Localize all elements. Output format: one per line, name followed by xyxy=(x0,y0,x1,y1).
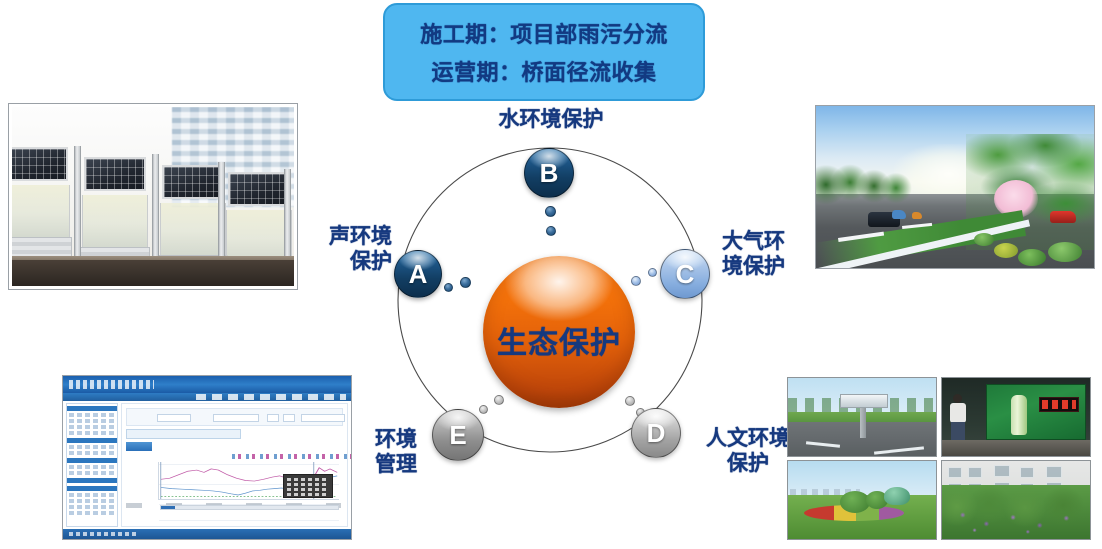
dashboard-main-panel xyxy=(121,403,348,527)
solar-panel xyxy=(84,157,146,191)
sidebar-item xyxy=(69,419,115,423)
footer-text xyxy=(69,532,139,536)
sidebar-item xyxy=(69,505,115,509)
chart-legend xyxy=(232,454,352,459)
sidebar-item xyxy=(69,493,115,497)
solar-panel xyxy=(228,172,290,206)
photo-monitoring-dashboard xyxy=(62,375,352,540)
connector-dot-b1 xyxy=(545,206,556,217)
tooltip-line xyxy=(287,478,329,481)
chart-tooltip xyxy=(283,474,333,498)
dashboard-nav-items xyxy=(196,394,346,400)
car-red xyxy=(1050,211,1076,223)
window xyxy=(994,465,1010,477)
filter-select[interactable] xyxy=(157,414,191,422)
photo-sound-barrier xyxy=(8,103,298,290)
filter-date-input[interactable] xyxy=(301,414,345,422)
shrub xyxy=(1018,249,1046,266)
dashboard-footer xyxy=(63,529,351,539)
sidebar-group-header xyxy=(67,458,117,463)
glass-panel xyxy=(226,210,292,262)
sidebar-item xyxy=(69,471,115,475)
node-letter-d: D xyxy=(647,418,666,449)
car-orange xyxy=(912,212,922,219)
sidebar-item xyxy=(69,499,115,503)
sidebar-group-header xyxy=(67,486,117,491)
led-digits xyxy=(1042,400,1076,409)
sidebar-item xyxy=(69,413,115,417)
gridline xyxy=(159,520,339,521)
pedestrian-torso xyxy=(950,403,966,423)
connector-dot-c1 xyxy=(631,276,641,286)
solar-panel xyxy=(162,165,224,199)
chart-scrollbar[interactable] xyxy=(160,505,339,510)
topiary-dome xyxy=(884,487,910,505)
label-environment-management: 环境 管理 xyxy=(348,428,444,478)
tooltip-line xyxy=(287,488,329,491)
billboard-pole xyxy=(860,408,866,438)
led-display xyxy=(1039,397,1079,412)
connector-dot-d1 xyxy=(625,396,635,406)
dashboard-title-text xyxy=(69,380,154,389)
sidebar-group-header xyxy=(67,406,117,411)
shrub xyxy=(974,233,994,246)
node-letter-b: B xyxy=(540,158,559,189)
node-sphere-d[interactable]: D xyxy=(631,408,681,458)
photo-humanistic-collage xyxy=(787,377,1093,540)
connector-dot-c2 xyxy=(648,268,657,277)
label-noise-protection: 声环境 保护 xyxy=(282,225,392,275)
glass-panel xyxy=(12,185,70,237)
node-sphere-c[interactable]: C xyxy=(660,249,710,299)
callout-line-1: 施工期：项目部雨污分流 xyxy=(420,17,668,49)
sidebar-group-header xyxy=(67,478,117,483)
filter-input[interactable] xyxy=(213,414,259,422)
window xyxy=(1020,467,1034,478)
connector-dot-e2 xyxy=(479,405,488,414)
active-tab[interactable] xyxy=(126,442,152,451)
collage-cell-billboard xyxy=(787,377,937,457)
pavement xyxy=(942,440,1090,456)
tooltip-line xyxy=(287,493,329,496)
sidebar-item xyxy=(69,511,115,515)
billboard-panel xyxy=(840,394,888,408)
filter-input-small[interactable] xyxy=(283,414,295,422)
sidebar-item xyxy=(69,431,115,435)
bottle-graphic xyxy=(1011,395,1027,435)
window xyxy=(948,467,962,478)
dashboard-screenshot xyxy=(63,376,351,539)
filter-toolbar xyxy=(126,408,343,426)
chart-scrollbar-thumb[interactable] xyxy=(161,506,175,509)
solar-panel xyxy=(12,147,68,181)
sidebar-item xyxy=(69,465,115,469)
sidebar-group-header xyxy=(67,438,117,443)
purple-flowers xyxy=(942,499,1090,539)
window xyxy=(968,467,982,478)
sidebar-item xyxy=(69,425,115,429)
label-water-protection: 水环境保护 xyxy=(451,108,651,133)
tooltip-line xyxy=(287,483,329,486)
node-sphere-b[interactable]: B xyxy=(524,148,574,198)
shrub xyxy=(994,243,1018,258)
filter-input-small[interactable] xyxy=(267,414,279,422)
callout-line-2: 运营期：桥面径流收集 xyxy=(431,55,656,87)
connector-dot-a2 xyxy=(444,283,453,292)
left-street-trees xyxy=(816,164,916,210)
pedestrian-head xyxy=(953,394,962,403)
car-blue xyxy=(892,210,906,219)
window xyxy=(1046,466,1062,478)
bridge-deck xyxy=(12,260,294,286)
pedestrian-legs xyxy=(951,422,965,442)
node-letter-e: E xyxy=(449,420,466,451)
node-sphere-a[interactable]: A xyxy=(394,250,442,298)
center-sphere: 生态保护 xyxy=(483,256,635,408)
glass-panel xyxy=(160,203,226,255)
node-letter-c: C xyxy=(676,259,695,290)
pedestrian xyxy=(948,394,968,442)
photo-road-greenery xyxy=(815,105,1095,269)
slide-canvas: 施工期：项目部雨污分流 运营期：桥面径流收集 生态保护 A B C D E 水环… xyxy=(0,0,1102,549)
sidebar-item xyxy=(69,445,115,449)
section-tab[interactable] xyxy=(126,429,241,439)
node-letter-a: A xyxy=(409,259,428,290)
center-sphere-label: 生态保护 xyxy=(497,318,621,362)
sound-barrier-image xyxy=(12,107,294,286)
connector-dot-e1 xyxy=(494,395,504,405)
collage-cell-hedge-planting xyxy=(941,460,1091,540)
glass-panel xyxy=(82,195,148,247)
shrub xyxy=(1048,242,1082,262)
collage-cell-bus-shelter-ad xyxy=(941,377,1091,457)
green-ad-panel xyxy=(986,384,1086,440)
sidebar-item xyxy=(69,451,115,455)
connector-dot-b2 xyxy=(546,226,556,236)
dashboard-sidebar xyxy=(66,403,118,527)
connector-dot-a1 xyxy=(460,277,471,288)
callout-box: 施工期：项目部雨污分流 运营期：桥面径流收集 xyxy=(383,3,705,101)
road-rendering-image xyxy=(816,106,1094,268)
collage-cell-flower-garden xyxy=(787,460,937,540)
